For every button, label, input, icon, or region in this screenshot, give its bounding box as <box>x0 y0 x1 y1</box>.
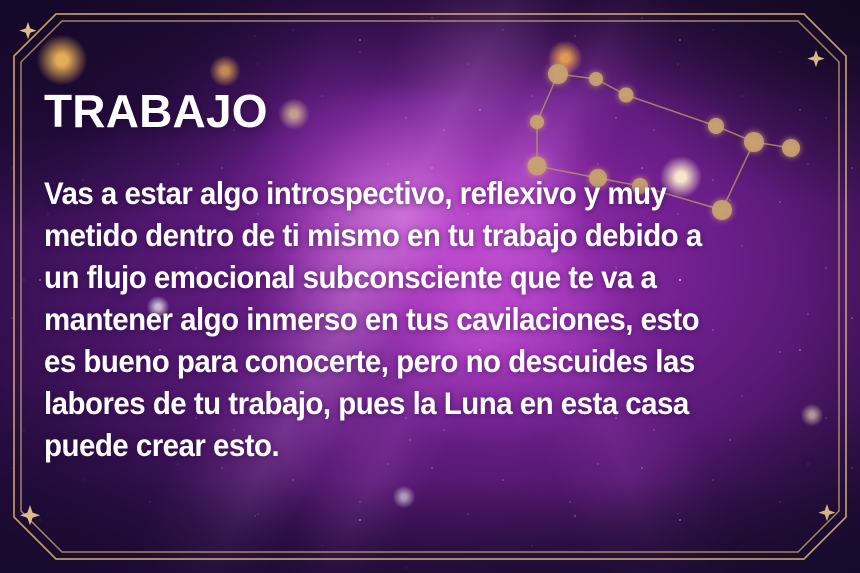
horoscope-body-text: Vas a estar algo introspectivo, reflexiv… <box>44 172 802 466</box>
body-text-line: un flujo emocional subconsciente que te … <box>44 256 802 298</box>
sparkle-bottom-right <box>818 504 835 521</box>
body-text-line: mantener algo inmerso en tus cavilacione… <box>44 298 802 340</box>
sparkle-bottom-left <box>20 505 40 525</box>
sparkle-top-right <box>807 50 824 67</box>
body-text-line: puede crear esto. <box>44 424 802 466</box>
page-title: TRABAJO <box>44 88 802 134</box>
horoscope-card: TRABAJO Vas a estar algo introspectivo, … <box>0 0 860 573</box>
body-text-line: metido dentro de ti mismo en tu trabajo … <box>44 214 802 256</box>
body-text-line: Vas a estar algo introspectivo, reflexiv… <box>44 172 802 214</box>
body-text-line: labores de tu trabajo, pues la Luna en e… <box>44 382 802 424</box>
body-text-line: es bueno para conocerte, pero no descuid… <box>44 340 802 382</box>
card-content: TRABAJO Vas a estar algo introspectivo, … <box>44 88 802 466</box>
